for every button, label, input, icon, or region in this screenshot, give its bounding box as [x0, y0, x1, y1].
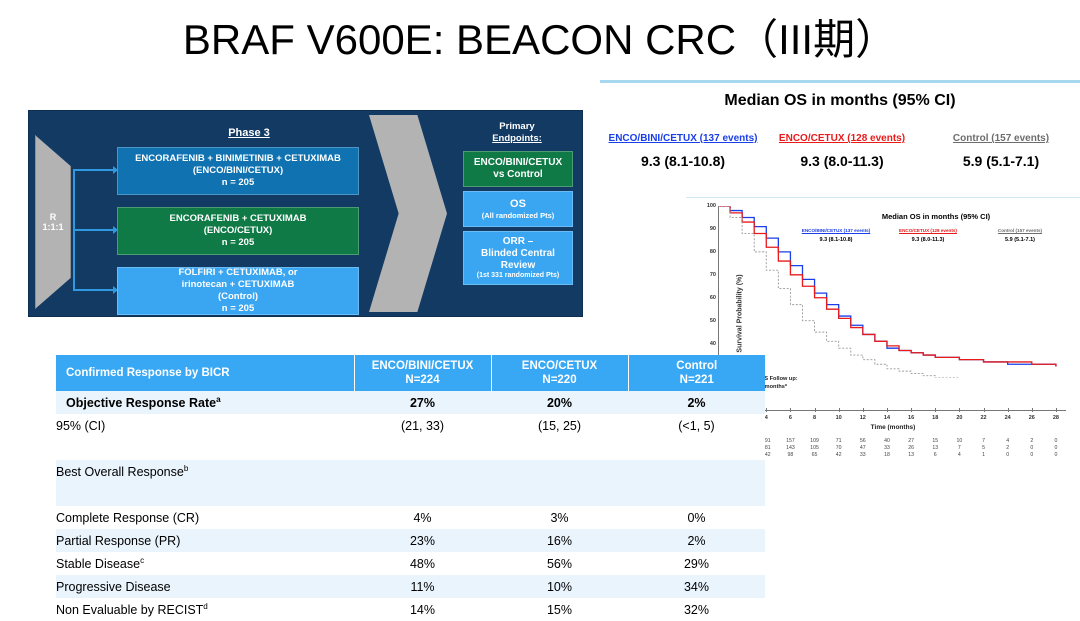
chart-legend-value-1: 9.3 (8.1-10.8)	[790, 237, 882, 243]
table-row	[56, 437, 765, 460]
endpoint-3-line4: (1st 331 randomized Pts)	[477, 272, 559, 280]
endpoints-title: Primary Endpoints:	[453, 121, 581, 145]
header-2-label: ENCO/CETUX	[522, 360, 597, 372]
at-risk-value: 109	[810, 438, 819, 444]
at-risk-value: 13	[908, 452, 914, 458]
y-tick-label: 100	[694, 203, 716, 209]
row-value: 20%	[491, 391, 628, 414]
row-value	[628, 483, 765, 506]
arm-2-regimen: ENCORAFENIB + CETUXIMAB	[170, 213, 307, 225]
at-risk-value: 7	[958, 445, 961, 451]
row-label	[56, 437, 354, 460]
x-tick-label: 24	[1005, 415, 1011, 421]
endpoint-2-line2: (All randomized Pts)	[482, 211, 555, 220]
at-risk-value: 27	[908, 438, 914, 444]
row-value: 3%	[491, 506, 628, 529]
x-tick-mark	[766, 408, 767, 412]
at-risk-value: 65	[812, 452, 818, 458]
followup-line-2: 8 months*	[760, 384, 798, 392]
at-risk-value: 33	[860, 452, 866, 458]
table-header-enco-bini-cetux: ENCO/BINI/CETUX N=224	[354, 355, 491, 391]
x-tick-mark	[1008, 408, 1009, 412]
at-risk-value: 98	[788, 452, 794, 458]
x-tick-mark	[1056, 408, 1057, 412]
followup-line-1: OS Follow up:	[760, 376, 798, 384]
chart-followup-annotation: OS Follow up: 8 months*	[760, 376, 798, 391]
at-risk-value: 42	[836, 452, 842, 458]
arm-1-n: n = 205	[222, 177, 254, 189]
y-tick-label: 70	[694, 272, 716, 278]
y-tick-label: 50	[694, 318, 716, 324]
arm-3-n: n = 205	[222, 303, 254, 315]
row-label: Progressive Disease	[56, 575, 354, 598]
x-tick-label: 20	[956, 415, 962, 421]
table-header-enco-cetux: ENCO/CETUX N=220	[491, 355, 628, 391]
at-risk-value: 143	[786, 445, 795, 451]
row-value: 14%	[354, 598, 491, 621]
os-legend-value-2: 9.3 (8.0-11.3)	[763, 153, 921, 169]
row-value	[628, 460, 765, 483]
at-risk-value: 26	[908, 445, 914, 451]
at-risk-value: 70	[836, 445, 842, 451]
row-value: 2%	[628, 391, 765, 414]
endpoint-os: OS (All randomized Pts)	[463, 191, 573, 227]
chart-inner-title: Median OS in months (95% CI)	[806, 212, 1066, 221]
y-tick-label: 90	[694, 226, 716, 232]
chevron-arrow-shape	[369, 115, 447, 312]
chart-inner-legend: ENCO/BINI/CETUX (137 events) 9.3 (8.1-10…	[790, 228, 1066, 243]
x-tick-mark	[790, 408, 791, 412]
at-risk-value: 13	[932, 445, 938, 451]
at-risk-value: 71	[836, 438, 842, 444]
endpoint-1-line1: ENCO/BINI/CETUX	[474, 157, 562, 169]
row-value: 2%	[628, 529, 765, 552]
x-tick-label: 28	[1053, 415, 1059, 421]
treatment-arm-enco-cetux: ENCORAFENIB + CETUXIMAB (ENCO/CETUX) n =…	[117, 207, 359, 255]
row-label: Stable Diseasec	[56, 552, 354, 575]
endpoint-1-line2: vs Control	[493, 169, 542, 181]
os-legend-label-3: Control (157 events)	[922, 133, 1080, 144]
chart-legend-item-2: ENCO/CETUX (128 events) 9.3 (8.0-11.3)	[882, 228, 974, 243]
os-legend-item-control: Control (157 events) 5.9 (5.1-7.1)	[922, 133, 1080, 169]
x-tick-label: 6	[789, 415, 792, 421]
chart-legend-label-2: ENCO/CETUX (128 events)	[882, 228, 974, 233]
endpoints-title-line1: Primary	[499, 121, 534, 132]
row-value: 23%	[354, 529, 491, 552]
header-1-n: N=224	[405, 374, 439, 386]
row-label: Non Evaluable by RECISTd	[56, 598, 354, 621]
arm-1-regimen: ENCORAFENIB + BINIMETINIB + CETUXIMAB	[135, 153, 341, 165]
x-tick-label: 8	[813, 415, 816, 421]
row-value: 27%	[354, 391, 491, 414]
x-tick-label: 12	[860, 415, 866, 421]
at-risk-value: 40	[884, 438, 890, 444]
row-value: 11%	[354, 575, 491, 598]
x-tick-label: 16	[908, 415, 914, 421]
at-risk-value: 33	[884, 445, 890, 451]
page-title: BRAF V600E: BEACON CRC（III期）	[0, 6, 1080, 67]
x-tick-label: 14	[884, 415, 890, 421]
row-value: 29%	[628, 552, 765, 575]
arm-2-abbrev: (ENCO/CETUX)	[204, 225, 273, 237]
x-tick-label: 26	[1029, 415, 1035, 421]
header-2-n: N=220	[542, 374, 576, 386]
randomization-label-r: R	[50, 212, 57, 222]
at-risk-value: 15	[932, 438, 938, 444]
header-3-label: Control	[676, 360, 717, 372]
arm-3-abbrev: (Control)	[218, 291, 258, 303]
treatment-arm-enco-bini-cetux: ENCORAFENIB + BINIMETINIB + CETUXIMAB (E…	[117, 147, 359, 195]
at-risk-value: 105	[810, 445, 819, 451]
at-risk-value: 1	[982, 452, 985, 458]
row-value: 34%	[628, 575, 765, 598]
confirmed-response-table: Confirmed Response by BICR ENCO/BINI/CET…	[56, 355, 765, 621]
row-value	[354, 483, 491, 506]
table-row: 95% (CI)(21, 33)(15, 25)(<1, 5)	[56, 414, 765, 437]
chart-legend-label-1: ENCO/BINI/CETUX (137 events)	[790, 228, 882, 233]
treatment-arm-control: FOLFIRI + CETUXIMAB, or irinotecan + CET…	[117, 267, 359, 315]
row-label: Objective Response Ratea	[56, 391, 354, 414]
at-risk-value: 0	[1030, 452, 1033, 458]
x-tick-label: 22	[980, 415, 986, 421]
at-risk-value: 47	[860, 445, 866, 451]
row-value: (15, 25)	[491, 414, 628, 437]
table-header-control: Control N=221	[628, 355, 765, 391]
row-value	[491, 437, 628, 460]
os-legend-item-enco-cetux: ENCO/CETUX (128 events) 9.3 (8.0-11.3)	[763, 133, 921, 169]
at-risk-value: 0	[1030, 445, 1033, 451]
endpoint-3-line2: Blinded Central	[481, 248, 555, 260]
chart-at-risk-table: 1911571097156402715107420181143105704733…	[718, 438, 1068, 466]
arm-3-regimen-line1: FOLFIRI + CETUXIMAB, or	[178, 267, 297, 279]
endpoint-2-line1: OS	[510, 198, 526, 211]
row-label: 95% (CI)	[56, 414, 354, 437]
row-value: 15%	[491, 598, 628, 621]
at-risk-value: 2	[1030, 438, 1033, 444]
randomization-shape: R 1:1:1	[35, 135, 71, 309]
endpoint-3-line1: ORR –	[503, 236, 534, 248]
os-panel-divider	[600, 80, 1080, 83]
x-tick-mark	[815, 408, 816, 412]
arm-connector-3	[73, 289, 117, 291]
at-risk-value: 0	[1054, 452, 1057, 458]
table-row: Non Evaluable by RECISTd14%15%32%	[56, 598, 765, 621]
row-value: 10%	[491, 575, 628, 598]
table-row	[56, 483, 765, 506]
arm-1-abbrev: (ENCO/BINI/CETUX)	[193, 165, 283, 177]
x-tick-mark	[863, 408, 864, 412]
row-value: 48%	[354, 552, 491, 575]
row-value: 16%	[491, 529, 628, 552]
at-risk-value: 56	[860, 438, 866, 444]
y-tick-label: 80	[694, 249, 716, 255]
row-value: (<1, 5)	[628, 414, 765, 437]
endpoints-title-line2: Endpoints:	[492, 133, 542, 144]
table-row: Objective Response Ratea27%20%2%	[56, 391, 765, 414]
x-tick-mark	[959, 408, 960, 412]
x-tick-mark	[887, 408, 888, 412]
chart-x-axis-label: Time (months)	[718, 424, 1068, 431]
table-header-label: Confirmed Response by BICR	[56, 355, 354, 391]
at-risk-value: 7	[982, 438, 985, 444]
os-legend-value-1: 9.3 (8.1-10.8)	[604, 153, 762, 169]
at-risk-value: 0	[1006, 452, 1009, 458]
x-tick-mark	[1032, 408, 1033, 412]
table-row: Progressive Disease11%10%34%	[56, 575, 765, 598]
row-value: 0%	[628, 506, 765, 529]
endpoint-orr: ORR – Blinded Central Review (1st 331 ra…	[463, 231, 573, 285]
os-legend-value-3: 5.9 (5.1-7.1)	[922, 153, 1080, 169]
x-tick-label: 18	[932, 415, 938, 421]
chart-legend-value-3: 5.9 (5.1-7.1)	[974, 237, 1066, 243]
at-risk-value: 18	[884, 452, 890, 458]
row-value: 4%	[354, 506, 491, 529]
table-header-row: Confirmed Response by BICR ENCO/BINI/CET…	[56, 355, 765, 391]
table-row: Partial Response (PR)23%16%2%	[56, 529, 765, 552]
at-risk-value: 0	[1054, 438, 1057, 444]
header-3-n: N=221	[680, 374, 714, 386]
at-risk-value: 2	[1006, 445, 1009, 451]
randomization-ratio: 1:1:1	[42, 222, 63, 232]
at-risk-value: 6	[934, 452, 937, 458]
row-value	[491, 460, 628, 483]
row-value	[491, 483, 628, 506]
row-value	[354, 460, 491, 483]
row-value	[628, 437, 765, 460]
os-legend-label-1: ENCO/BINI/CETUX (137 events)	[604, 133, 762, 144]
at-risk-value: 0	[1054, 445, 1057, 451]
os-summary-legend: ENCO/BINI/CETUX (137 events) 9.3 (8.1-10…	[604, 133, 1080, 169]
at-risk-value: 4	[1006, 438, 1009, 444]
row-value: (21, 33)	[354, 414, 491, 437]
arm-connector-2	[73, 229, 117, 231]
row-label	[56, 483, 354, 506]
row-value: 56%	[491, 552, 628, 575]
row-value	[354, 437, 491, 460]
x-tick-label: 10	[836, 415, 842, 421]
row-label: Complete Response (CR)	[56, 506, 354, 529]
os-legend-label-2: ENCO/CETUX (128 events)	[763, 133, 921, 144]
y-tick-label: 40	[694, 341, 716, 347]
x-tick-label: 4	[765, 415, 768, 421]
at-risk-value: 4	[958, 452, 961, 458]
header-1-label: ENCO/BINI/CETUX	[372, 360, 474, 372]
arm-connector-1	[73, 169, 117, 171]
chart-legend-value-2: 9.3 (8.0-11.3)	[882, 237, 974, 243]
table-row: Best Overall Responseb	[56, 460, 765, 483]
row-label: Best Overall Responseb	[56, 460, 354, 483]
chart-legend-label-3: Control (157 events)	[974, 228, 1066, 233]
row-label: Partial Response (PR)	[56, 529, 354, 552]
row-value: 32%	[628, 598, 765, 621]
arm-3-regimen-line2: irinotecan + CETUXIMAB	[182, 279, 295, 291]
x-tick-mark	[911, 408, 912, 412]
endpoint-comparison: ENCO/BINI/CETUX vs Control	[463, 151, 573, 187]
study-design-diagram: Phase 3 R 1:1:1 ENCORAFENIB + BINIMETINI…	[28, 110, 583, 317]
at-risk-value: 5	[982, 445, 985, 451]
os-summary-title: Median OS in months (95% CI)	[600, 92, 1080, 110]
x-tick-mark	[839, 408, 840, 412]
table-row: Complete Response (CR)4%3%0%	[56, 506, 765, 529]
x-tick-mark	[984, 408, 985, 412]
y-tick-label: 60	[694, 295, 716, 301]
chart-legend-item-3: Control (157 events) 5.9 (5.1-7.1)	[974, 228, 1066, 243]
chart-x-axis-ticks: 46810121416182022242628	[718, 412, 1068, 424]
at-risk-value: 157	[786, 438, 795, 444]
x-tick-mark	[935, 408, 936, 412]
table-row: Stable Diseasec48%56%29%	[56, 552, 765, 575]
primary-endpoints-panel: Primary Endpoints: ENCO/BINI/CETUX vs Co…	[453, 115, 581, 312]
chart-legend-item-1: ENCO/BINI/CETUX (137 events) 9.3 (8.1-10…	[790, 228, 882, 243]
chart-y-axis-ticks: 10090807060504030	[694, 206, 716, 376]
arm-2-n: n = 205	[222, 237, 254, 249]
chart-x-axis-line	[718, 410, 1066, 411]
os-legend-item-enco-bini-cetux: ENCO/BINI/CETUX (137 events) 9.3 (8.1-10…	[604, 133, 762, 169]
at-risk-value: 10	[956, 438, 962, 444]
endpoint-3-line3: Review	[501, 260, 535, 272]
